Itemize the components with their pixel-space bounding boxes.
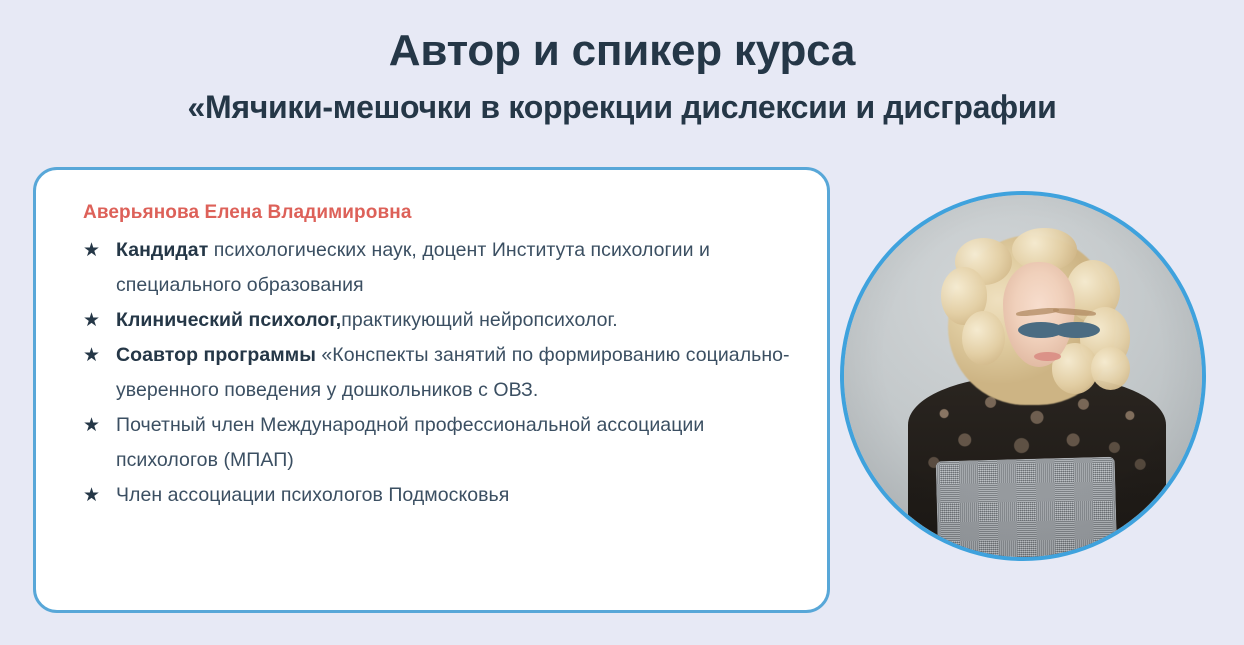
credential-text: Член ассоциации психологов Подмосковья (116, 484, 509, 506)
list-item: ★ Член ассоциации психологов Подмосковья (83, 478, 797, 513)
portrait-lips (1034, 352, 1061, 361)
credential-bold: Клинический психолог, (116, 309, 341, 331)
speaker-name: Аверьянова Елена Владимировна (83, 202, 797, 224)
star-icon: ★ (83, 233, 105, 268)
list-item: ★ Соавтор программы «Конспекты занятий п… (83, 338, 797, 408)
credential-text: практикующий нейропсихолог. (341, 309, 617, 331)
list-item: ★ Кандидат психологических наук, доцент … (83, 233, 797, 303)
credentials-list: ★ Кандидат психологических наук, доцент … (83, 233, 797, 513)
portrait-hair-curl (962, 311, 1005, 365)
page-title: Автор и спикер курса (0, 26, 1244, 75)
star-icon: ★ (83, 303, 105, 338)
card-content: Аверьянова Елена Владимировна ★ Кандидат… (36, 170, 827, 513)
list-item: ★ Клинический психолог,практикующий нейр… (83, 303, 797, 338)
portrait-eye-right (1053, 322, 1100, 338)
portrait-image (844, 195, 1202, 557)
page-subtitle: «Мячики-мешочки в коррекции дислексии и … (0, 89, 1244, 126)
slide-header: Автор и спикер курса «Мячики-мешочки в к… (0, 0, 1244, 126)
list-item: ★ Почетный член Международной профессион… (83, 408, 797, 478)
speaker-info-card: Аверьянова Елена Владимировна ★ Кандидат… (33, 167, 830, 613)
star-icon: ★ (83, 408, 105, 443)
credential-bold: Соавтор программы (116, 344, 316, 366)
credential-bold: Кандидат (116, 239, 208, 261)
speaker-portrait (840, 191, 1206, 561)
credential-text: Почетный член Международной профессионал… (116, 414, 704, 471)
portrait-bodice (936, 457, 1118, 557)
slide-root: Автор и спикер курса «Мячики-мешочки в к… (0, 0, 1244, 645)
star-icon: ★ (83, 478, 105, 513)
star-icon: ★ (83, 338, 105, 373)
